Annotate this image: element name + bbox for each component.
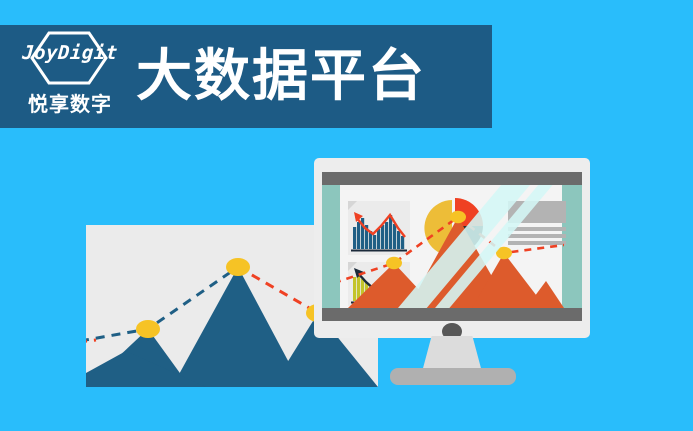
monitor-screen [322, 185, 582, 308]
data-point-marker [136, 320, 160, 338]
data-point-marker [496, 247, 512, 259]
desktop-monitor [314, 158, 590, 338]
widget-area-mountains[interactable] [340, 207, 564, 308]
data-point-marker [450, 211, 466, 223]
monitor-top-bezel [322, 172, 582, 185]
data-point-marker [226, 258, 250, 276]
monitor-stand-neck [422, 336, 482, 372]
monitor-bottom-bezel [322, 308, 582, 321]
screen-left-panel [322, 185, 340, 308]
banner-canvas: JoyDigit 悦享数字 大数据平台 [0, 0, 693, 431]
monitor-stand-base [390, 368, 516, 385]
data-point-marker [386, 257, 402, 269]
page-title: 大数据平台 [136, 38, 426, 114]
logo-subtitle: 悦享数字 [14, 88, 126, 117]
brand-logo: JoyDigit 悦享数字 [14, 30, 126, 122]
logo-wordmark: JoyDigit [13, 42, 127, 64]
mountain-shape-center [172, 267, 302, 387]
